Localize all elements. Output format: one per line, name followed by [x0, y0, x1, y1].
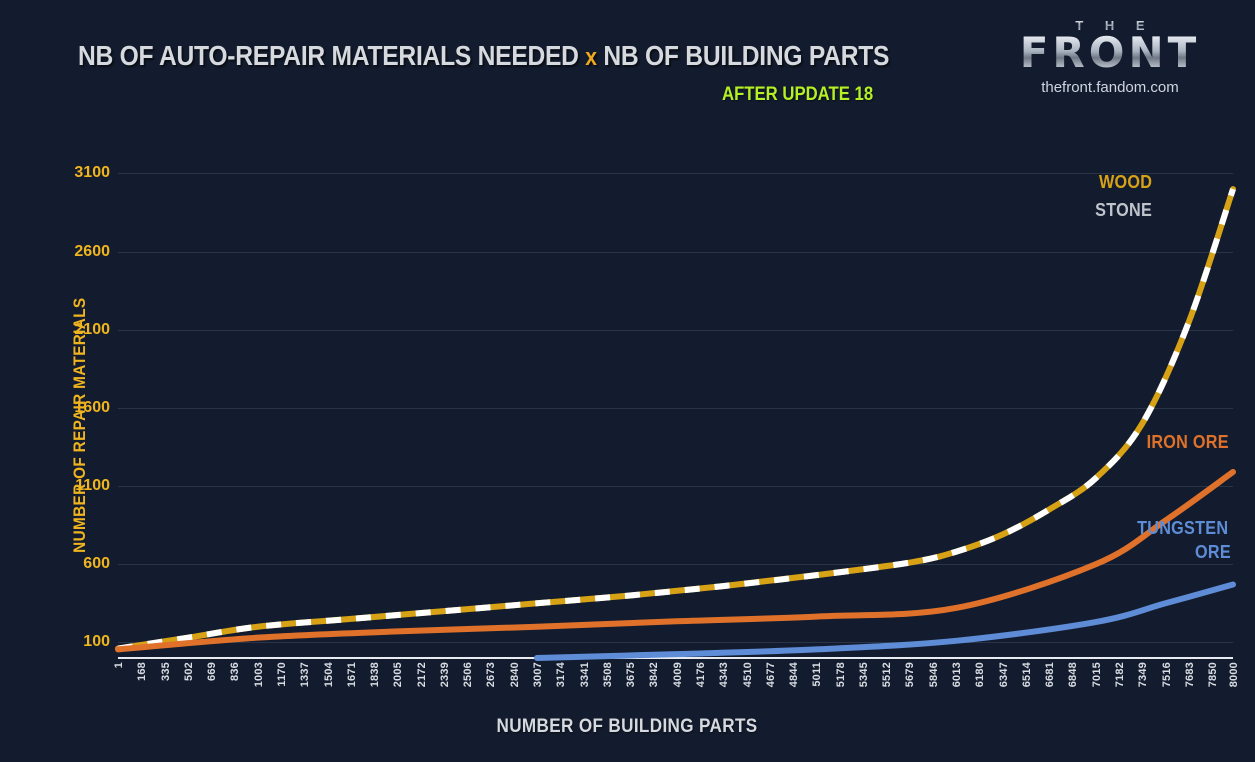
y-axis-tick-label: 1100: [58, 477, 110, 495]
x-axis-tick-label: 1003: [253, 662, 265, 687]
x-axis-tick-label: 4176: [695, 662, 707, 687]
x-axis-tick-label: 2506: [462, 662, 474, 687]
x-axis-tick-label: 8000: [1228, 662, 1240, 687]
x-axis-tick-label: 6848: [1067, 662, 1079, 687]
x-axis-tick-label: 1337: [299, 662, 311, 687]
logo-url-text: thefront.fandom.com: [1005, 79, 1215, 96]
x-axis-tick-label: 6180: [974, 662, 986, 687]
brand-logo: T H E FRONT thefront.fandom.com: [1005, 18, 1215, 96]
series-label-wood: WOOD: [1096, 172, 1155, 193]
x-axis-tick-label: 7349: [1137, 662, 1149, 687]
x-axis-tick-label: 2673: [485, 662, 497, 687]
x-axis-tick-label: 502: [183, 662, 195, 681]
x-axis-tick-label: 6347: [998, 662, 1010, 687]
x-axis-tick-label: 6514: [1021, 662, 1033, 687]
x-axis-tick-label: 1671: [346, 662, 358, 687]
x-axis-tick-label: 2840: [509, 662, 521, 687]
y-axis-tick-label: 600: [58, 555, 110, 573]
title-part-2: NB OF BUILDING PARTS: [603, 40, 889, 71]
y-axis-tick-label: 100: [58, 633, 110, 651]
x-axis-tick-label: 7182: [1114, 662, 1126, 687]
x-axis-tick-label: 2339: [439, 662, 451, 687]
x-axis-tick-label: 1170: [276, 662, 288, 687]
plot-area: [118, 150, 1233, 658]
x-axis-tick-label: 6681: [1044, 662, 1056, 687]
x-axis-tick-label: 1838: [369, 662, 381, 687]
x-axis-tick-label: 3007: [532, 662, 544, 687]
x-axis-tick-label: 7683: [1184, 662, 1196, 687]
x-axis-tick-label: 7850: [1207, 662, 1219, 687]
y-axis-tick-label: 1600: [58, 399, 110, 417]
x-axis-tick-label: 3842: [648, 662, 660, 687]
x-axis-tick-label: 836: [229, 662, 241, 681]
series-label-tungsten-ore-line1: TUNGSTEN: [1132, 518, 1233, 539]
title-x-separator: x: [585, 44, 596, 71]
x-axis-tick-label: 2005: [392, 662, 404, 687]
x-axis-tick-label: 4510: [742, 662, 754, 687]
x-axis-tick-label: 5512: [881, 662, 893, 687]
y-axis-tick-label: 2600: [58, 243, 110, 261]
x-axis-tick-label: 5679: [904, 662, 916, 687]
x-axis-tick-label: 3508: [602, 662, 614, 687]
x-axis-tick-label: 2172: [416, 662, 428, 687]
x-axis-tick-label: 4343: [718, 662, 730, 687]
x-axis-tick-label: 7516: [1161, 662, 1173, 687]
x-axis-tick-labels: 1168335502669836100311701337150416711838…: [118, 662, 1233, 720]
x-axis-tick-label: 5846: [928, 662, 940, 687]
x-axis-tick-label: 4677: [765, 662, 777, 687]
series-label-stone: STONE: [1092, 200, 1155, 221]
title-part-1: NB OF AUTO-REPAIR MATERIALS NEEDED: [78, 40, 579, 71]
x-axis-tick-label: 4844: [788, 662, 800, 687]
x-axis-tick-label: 1504: [323, 662, 335, 687]
x-axis-tick-label: 3341: [579, 662, 591, 687]
series-line-stone-dashes: [118, 189, 1233, 649]
x-axis-tick-label: 5178: [835, 662, 847, 687]
series-label-tungsten-ore-line2: ORE: [1193, 542, 1233, 563]
series-lines: [118, 150, 1233, 658]
x-axis-tick-label: 7015: [1091, 662, 1103, 687]
logo-front-text: FRONT: [1005, 33, 1215, 73]
x-axis-tick-label: 168: [136, 662, 148, 681]
x-axis-tick-label: 1: [113, 662, 125, 668]
x-axis-tick-label: 5011: [811, 662, 823, 687]
x-axis-tick-label: 6013: [951, 662, 963, 687]
page-subtitle: AFTER UPDATE 18: [722, 84, 873, 106]
y-axis-tick-label: 3100: [58, 164, 110, 182]
series-line-wood-stone: [118, 189, 1233, 649]
chart-page: NB OF AUTO-REPAIR MATERIALS NEEDED x NB …: [0, 0, 1255, 762]
page-title: NB OF AUTO-REPAIR MATERIALS NEEDED x NB …: [78, 40, 889, 72]
x-axis-tick-label: 3675: [625, 662, 637, 687]
x-axis-tick-label: 3174: [555, 662, 567, 687]
x-axis-tick-label: 669: [206, 662, 218, 681]
x-axis-tick-label: 335: [160, 662, 172, 681]
y-axis-tick-label: 2100: [58, 321, 110, 339]
x-axis-tick-label: 5345: [858, 662, 870, 687]
series-label-iron-ore: IRON ORE: [1142, 432, 1233, 453]
x-axis-tick-label: 4009: [672, 662, 684, 687]
